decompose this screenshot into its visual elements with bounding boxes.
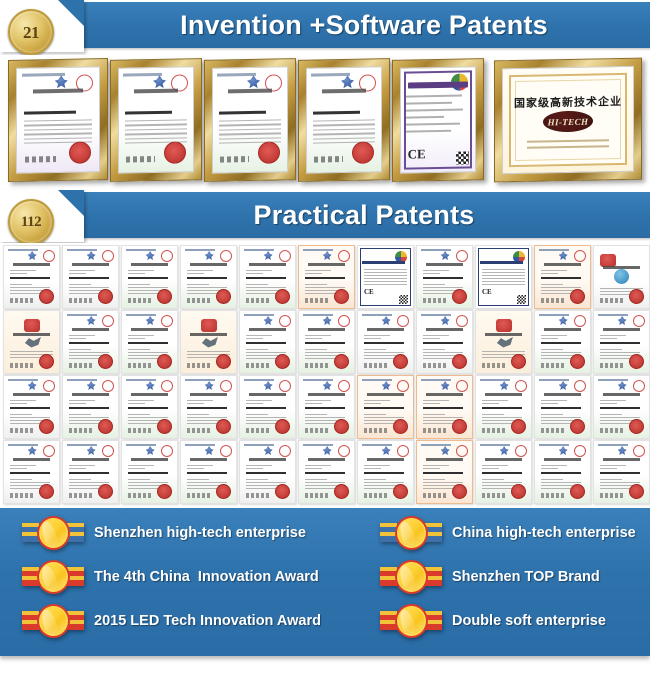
patent-number-line	[482, 407, 522, 409]
certificate-title-line	[249, 393, 286, 396]
patent-office-logo-icon	[618, 381, 627, 390]
certificate-body-lines	[423, 270, 466, 276]
certificate-title-line	[33, 88, 82, 93]
stamp-outline-icon	[161, 315, 173, 327]
red-seal-icon	[275, 419, 290, 434]
red-seal-icon	[570, 419, 585, 434]
patent-number-line	[541, 472, 581, 474]
signature-line	[69, 428, 93, 433]
patent-certificate-thumbnail[interactable]	[180, 375, 237, 439]
patent-office-logo-icon	[146, 316, 155, 325]
certificate-body-lines	[10, 270, 53, 276]
framed-certificate[interactable]	[204, 58, 296, 182]
award-medal-icon	[380, 516, 442, 550]
patent-number-line	[600, 472, 640, 474]
patent-certificate-thumbnail[interactable]	[298, 375, 355, 439]
qr-code-icon	[456, 151, 469, 164]
framed-certificate[interactable]	[8, 58, 108, 182]
patent-number-line	[305, 407, 345, 409]
stamp-outline-icon	[338, 445, 350, 457]
stamp-outline-icon	[43, 445, 55, 457]
certificate-header-line	[67, 444, 97, 446]
certificate-title-line	[480, 261, 523, 264]
patent-office-logo-icon	[618, 316, 627, 325]
patent-number-line	[364, 342, 404, 344]
award-label: Shenzhen TOP Brand	[452, 569, 600, 585]
award-item[interactable]: Shenzhen TOP Brand	[325, 556, 650, 598]
signature-line	[10, 363, 34, 368]
patent-number-line	[69, 342, 109, 344]
certificate-title-line	[426, 263, 463, 266]
certificate-title-line	[603, 458, 640, 461]
certificate-header-line	[362, 379, 392, 381]
award-medal-icon	[22, 560, 84, 594]
signature-line	[305, 493, 329, 498]
patent-number-line	[423, 277, 463, 279]
award-item[interactable]: China high-tech enterprise	[325, 512, 650, 554]
patent-number-line	[482, 472, 522, 474]
patent-certificate-thumbnail[interactable]	[239, 375, 296, 439]
certificate-header-line	[421, 444, 451, 446]
patent-office-logo-icon	[264, 381, 273, 390]
certificate-body-lines	[69, 400, 112, 406]
patent-office-logo-icon	[28, 381, 37, 390]
certificate-body-lines	[600, 465, 643, 471]
patent-office-logo-icon	[264, 316, 273, 325]
patent-office-logo-icon	[382, 381, 391, 390]
certificate-title-line	[544, 263, 581, 266]
patent-number-line	[313, 110, 360, 114]
red-seal-icon	[393, 419, 408, 434]
signature-line	[541, 363, 565, 368]
patent-certificate-thumbnail[interactable]: CE	[475, 245, 532, 309]
certificate-body-lines	[246, 400, 289, 406]
patent-certificate-thumbnail[interactable]	[180, 310, 237, 374]
certificate-body-lines	[305, 335, 348, 341]
stamp-outline-icon	[279, 315, 291, 327]
patent-certificate-thumbnail[interactable]	[357, 440, 414, 504]
framed-certificate[interactable]	[110, 58, 202, 182]
section-count-value: 112	[21, 215, 41, 230]
patent-office-logo-icon	[146, 381, 155, 390]
certificate-header-line	[362, 444, 392, 446]
stamp-outline-icon	[633, 445, 645, 457]
patent-office-logo-icon	[146, 446, 155, 455]
red-seal-icon	[157, 484, 172, 499]
patent-office-logo-icon	[441, 381, 450, 390]
signature-line	[364, 493, 388, 498]
patent-number-line	[600, 407, 640, 409]
certificate-header-line	[8, 249, 38, 251]
award-item[interactable]: 2015 LED Tech Innovation Award	[0, 600, 347, 642]
certificate-title-line	[249, 328, 286, 331]
red-seal-icon	[629, 354, 644, 369]
certificate-body-lines	[364, 335, 407, 341]
certificate-header-line	[598, 379, 628, 381]
patent-certificate-thumbnail[interactable]	[298, 245, 355, 309]
signature-line	[246, 493, 270, 498]
gold-medal-icon: 21	[8, 9, 54, 55]
patent-certificate-thumbnail[interactable]	[534, 440, 591, 504]
practical-patents-grid: CECE	[3, 245, 650, 504]
certificate-body-lines	[69, 270, 112, 276]
red-seal-icon	[452, 484, 467, 499]
patent-certificate-thumbnail[interactable]	[180, 440, 237, 504]
patent-certificate-thumbnail[interactable]	[416, 375, 473, 439]
signature-line	[423, 298, 447, 303]
signature-line	[69, 298, 93, 303]
certificate-title-line	[13, 333, 50, 336]
patent-office-logo-icon	[247, 75, 260, 88]
certificate-inner-border: 国家级高新技术企业 HI-TECH	[509, 73, 627, 167]
patent-office-logo-icon	[382, 446, 391, 455]
signature-line	[128, 298, 152, 303]
certificate-paper	[212, 66, 288, 173]
certificate-header-line	[67, 249, 97, 251]
certificate-header-line	[303, 249, 333, 251]
certificate-title-line	[72, 393, 109, 396]
red-seal-icon	[39, 354, 54, 369]
certificate-title-line	[544, 328, 581, 331]
signature-line	[246, 428, 270, 433]
certificate-paper: 国家级高新技术企业 HI-TECH	[502, 66, 634, 175]
patent-certificate-thumbnail[interactable]	[62, 440, 119, 504]
certificate-header-line	[303, 444, 333, 446]
certificate-title-line	[131, 328, 168, 331]
patent-office-logo-icon	[264, 251, 273, 260]
certificate-body-lines	[187, 270, 230, 276]
stamp-outline-icon	[397, 445, 409, 457]
awards-column-left: Shenzhen high-tech enterprise The 4th Ch…	[0, 508, 325, 656]
certificate-body-lines	[541, 400, 584, 406]
patent-certificate-thumbnail[interactable]	[416, 440, 473, 504]
signature-line	[128, 363, 152, 368]
red-seal-icon	[334, 484, 349, 499]
practical-patents-grid-wrapper: CECE	[0, 243, 650, 505]
signature-line	[305, 428, 329, 433]
patent-certificate-thumbnail[interactable]	[534, 245, 591, 309]
patent-number-line	[10, 277, 50, 279]
certificate-title-line	[322, 88, 366, 93]
signature-line	[541, 493, 565, 498]
signature-line	[314, 156, 342, 163]
certificate-body-lines	[128, 335, 171, 341]
patent-certificate-thumbnail[interactable]	[416, 245, 473, 309]
patent-office-logo-icon	[500, 381, 509, 390]
certificate-body-lines	[600, 400, 643, 406]
patent-number-line	[69, 472, 109, 474]
ce-certificate-title	[408, 81, 467, 88]
certificate-header-line	[303, 379, 333, 381]
certificate-title-line	[485, 333, 522, 336]
red-seal-icon	[511, 419, 526, 434]
national-emblem-stamp-icon	[201, 319, 217, 332]
patent-certificate-thumbnail[interactable]	[121, 440, 178, 504]
red-seal-icon	[570, 484, 585, 499]
certificate-title-line	[485, 458, 522, 461]
award-item[interactable]: The 4th China Innovation Award	[0, 556, 347, 598]
red-seal-icon	[629, 419, 644, 434]
patent-office-logo-icon	[87, 381, 96, 390]
patent-certificate-thumbnail[interactable]	[298, 440, 355, 504]
red-seal-icon	[98, 289, 113, 304]
signature-line	[423, 493, 447, 498]
award-label: Double soft enterprise	[452, 613, 606, 629]
certificate-title-line	[72, 328, 109, 331]
signature-line	[364, 428, 388, 433]
certificate-header-line	[539, 314, 569, 316]
stamp-outline-icon	[220, 250, 232, 262]
certificate-title-line	[544, 393, 581, 396]
patent-certificate-thumbnail[interactable]	[534, 375, 591, 439]
certificate-header-line	[539, 249, 569, 251]
banner-shadow	[78, 238, 650, 241]
certificate-body-lines	[187, 465, 230, 471]
certificate-header-line	[126, 379, 156, 381]
red-seal-icon	[452, 354, 467, 369]
patent-number-line	[128, 407, 168, 409]
signature-line	[364, 363, 388, 368]
patent-certificate-thumbnail[interactable]	[593, 375, 650, 439]
patent-number-line	[10, 407, 50, 409]
stamp-outline-icon	[338, 250, 350, 262]
patent-certificate-thumbnail[interactable]	[239, 245, 296, 309]
patent-certificate-thumbnail[interactable]	[121, 310, 178, 374]
patent-office-logo-icon	[323, 381, 332, 390]
certificate-header-line	[126, 314, 156, 316]
patent-number-line	[246, 342, 286, 344]
signature-line	[305, 363, 329, 368]
section-banner-invention-software-patents: Invention +Software Patents 21	[0, 0, 650, 50]
patent-number-line	[305, 472, 345, 474]
certificate-title-line	[190, 393, 227, 396]
patent-certificate-thumbnail[interactable]	[62, 245, 119, 309]
signature-line	[600, 493, 624, 498]
stamp-outline-icon	[456, 380, 468, 392]
section-title: Practical Patents	[78, 192, 650, 238]
certificate-header-line	[244, 444, 274, 446]
patent-number-line	[69, 277, 109, 279]
red-seal-icon	[39, 419, 54, 434]
certificate-title-line	[249, 263, 286, 266]
patent-certificate-thumbnail[interactable]	[416, 310, 473, 374]
awards-panel: Shenzhen high-tech enterprise The 4th Ch…	[0, 508, 650, 656]
stamp-outline-icon	[161, 250, 173, 262]
patent-certificate-thumbnail[interactable]	[3, 440, 60, 504]
framed-ce-certificate[interactable]: CE	[392, 58, 484, 182]
patent-office-logo-icon	[264, 446, 273, 455]
stamp-outline-icon	[456, 445, 468, 457]
patent-certificate-thumbnail[interactable]	[475, 375, 532, 439]
certificate-title-line	[426, 393, 463, 396]
certificate-title-line	[131, 393, 168, 396]
certificate-body-lines	[482, 465, 525, 471]
patent-number-line	[423, 342, 463, 344]
patent-certificate-thumbnail[interactable]	[3, 310, 60, 374]
patent-office-logo-icon	[559, 251, 568, 260]
patent-certificate-thumbnail[interactable]	[121, 375, 178, 439]
certificate-header-line	[67, 314, 97, 316]
certificate-header-line	[311, 73, 349, 77]
certificate-header-line	[185, 249, 215, 251]
patent-certificate-thumbnail[interactable]	[298, 310, 355, 374]
patent-number-line	[187, 407, 227, 409]
signature-line	[305, 298, 329, 303]
certificate-body-lines	[128, 270, 171, 276]
certificate-body-lines	[128, 400, 171, 406]
stamp-outline-icon	[397, 315, 409, 327]
hitech-footer-lines	[527, 139, 609, 153]
stamp-outline-icon	[456, 250, 468, 262]
award-medal-icon	[22, 604, 84, 638]
signature-line	[25, 156, 56, 163]
red-seal-icon	[334, 354, 349, 369]
stamp-outline-icon	[102, 445, 114, 457]
patent-certificate-thumbnail[interactable]	[121, 245, 178, 309]
patent-number-line	[187, 277, 227, 279]
award-item[interactable]: Double soft enterprise	[325, 600, 650, 642]
certificate-body-lines	[305, 465, 348, 471]
section-count-value: 21	[23, 24, 39, 41]
signature-line	[69, 493, 93, 498]
stamp-outline-icon	[220, 380, 232, 392]
certificate-paper	[118, 66, 194, 173]
ce-body-rows	[406, 94, 470, 137]
patent-number-line	[128, 472, 168, 474]
certificate-body-lines	[187, 400, 230, 406]
certificate-header-line	[421, 379, 451, 381]
certificate-title-line	[131, 458, 168, 461]
patent-certificate-thumbnail[interactable]	[475, 440, 532, 504]
award-medal-icon	[380, 604, 442, 638]
certificate-header-line	[421, 314, 451, 316]
patent-certificate-thumbnail[interactable]	[475, 310, 532, 374]
patent-certificate-thumbnail[interactable]	[62, 375, 119, 439]
patent-certificate-thumbnail[interactable]	[180, 245, 237, 309]
certificate-title-line	[13, 393, 50, 396]
red-seal-icon	[629, 289, 644, 304]
patent-certificate-thumbnail[interactable]	[239, 440, 296, 504]
signature-line	[600, 363, 624, 368]
certificate-title-line	[308, 393, 345, 396]
signature-line	[10, 493, 34, 498]
patent-office-logo-icon	[87, 446, 96, 455]
patent-office-logo-icon	[205, 446, 214, 455]
certificate-title-line	[249, 458, 286, 461]
stamp-outline-icon	[338, 380, 350, 392]
stamp-outline-icon	[456, 315, 468, 327]
patent-certificate-thumbnail[interactable]	[239, 310, 296, 374]
certificate-header-line	[185, 444, 215, 446]
certificate-header-line	[539, 444, 569, 446]
patent-number-line	[187, 472, 227, 474]
red-seal-icon	[39, 289, 54, 304]
patent-number-line	[128, 277, 168, 279]
stamp-outline-icon	[397, 380, 409, 392]
red-seal-icon	[511, 484, 526, 499]
certificate-title-line	[131, 263, 168, 266]
signature-line	[246, 363, 270, 368]
patent-certificate-thumbnail[interactable]	[593, 440, 650, 504]
red-seal-icon	[98, 419, 113, 434]
certificate-title-line	[367, 458, 404, 461]
section-title: Invention +Software Patents	[78, 2, 650, 48]
red-seal-icon	[69, 141, 91, 163]
award-item[interactable]: Shenzhen high-tech enterprise	[0, 512, 347, 554]
certificate-body-lines	[423, 465, 466, 471]
banner-shadow	[78, 48, 650, 51]
patent-certificate-thumbnail[interactable]	[357, 310, 414, 374]
certificate-body-lines	[541, 335, 584, 341]
certificate-body-lines	[364, 400, 407, 406]
patent-office-logo-icon	[205, 251, 214, 260]
patent-office-logo-icon	[28, 251, 37, 260]
patent-certificate-thumbnail[interactable]	[357, 375, 414, 439]
patent-certificate-thumbnail[interactable]	[593, 310, 650, 374]
patent-certificate-thumbnail[interactable]	[534, 310, 591, 374]
certificate-header-line	[539, 379, 569, 381]
certificate-header-line	[362, 314, 392, 316]
certificate-title-line	[190, 458, 227, 461]
patent-number-line	[364, 472, 404, 474]
patent-certificate-thumbnail[interactable]	[3, 375, 60, 439]
stamp-outline-icon	[633, 315, 645, 327]
certificate-header-line	[244, 379, 274, 381]
eagle-emblem-icon	[497, 337, 513, 348]
signature-line	[10, 298, 34, 303]
patent-number-line	[364, 407, 404, 409]
certificate-body-lines	[246, 335, 289, 341]
certificate-body-lines	[10, 465, 53, 471]
patent-office-logo-icon	[323, 316, 332, 325]
patent-office-logo-icon	[500, 446, 509, 455]
red-seal-icon	[275, 484, 290, 499]
red-seal-icon	[157, 289, 172, 304]
awards-column-right: China high-tech enterprise Shenzhen TOP …	[325, 508, 650, 656]
certificate-title-line	[190, 263, 227, 266]
patent-certificate-thumbnail[interactable]	[593, 245, 650, 309]
stamp-outline-icon	[161, 380, 173, 392]
patent-number-line	[24, 110, 76, 114]
certificate-header-line	[217, 73, 255, 77]
stamp-outline-icon	[102, 315, 114, 327]
red-seal-icon	[570, 289, 585, 304]
qr-code-icon	[517, 295, 526, 304]
signature-line	[541, 298, 565, 303]
certificate-paper	[306, 66, 382, 173]
patent-number-line	[219, 110, 266, 114]
certificate-body-lines	[69, 465, 112, 471]
framed-hitech-certificate[interactable]: 国家级高新技术企业 HI-TECH	[494, 58, 642, 183]
red-seal-icon	[98, 354, 113, 369]
certificate-header-line	[244, 314, 274, 316]
certificate-header-line	[22, 73, 65, 77]
framed-certificate[interactable]	[298, 58, 390, 182]
patent-certificate-thumbnail[interactable]: CE	[357, 245, 414, 309]
stamp-outline-icon	[102, 250, 114, 262]
signature-line	[126, 156, 154, 163]
signature-line	[423, 428, 447, 433]
patent-certificate-thumbnail[interactable]	[3, 245, 60, 309]
award-label: 2015 LED Tech Innovation Award	[94, 613, 321, 629]
patent-number-line	[541, 342, 581, 344]
ce-mark-icon: CE	[482, 288, 492, 296]
patent-certificate-thumbnail[interactable]	[62, 310, 119, 374]
patent-number-line	[541, 407, 581, 409]
red-seal-icon	[157, 354, 172, 369]
certificate-header-line	[480, 444, 510, 446]
red-seal-icon	[157, 419, 172, 434]
